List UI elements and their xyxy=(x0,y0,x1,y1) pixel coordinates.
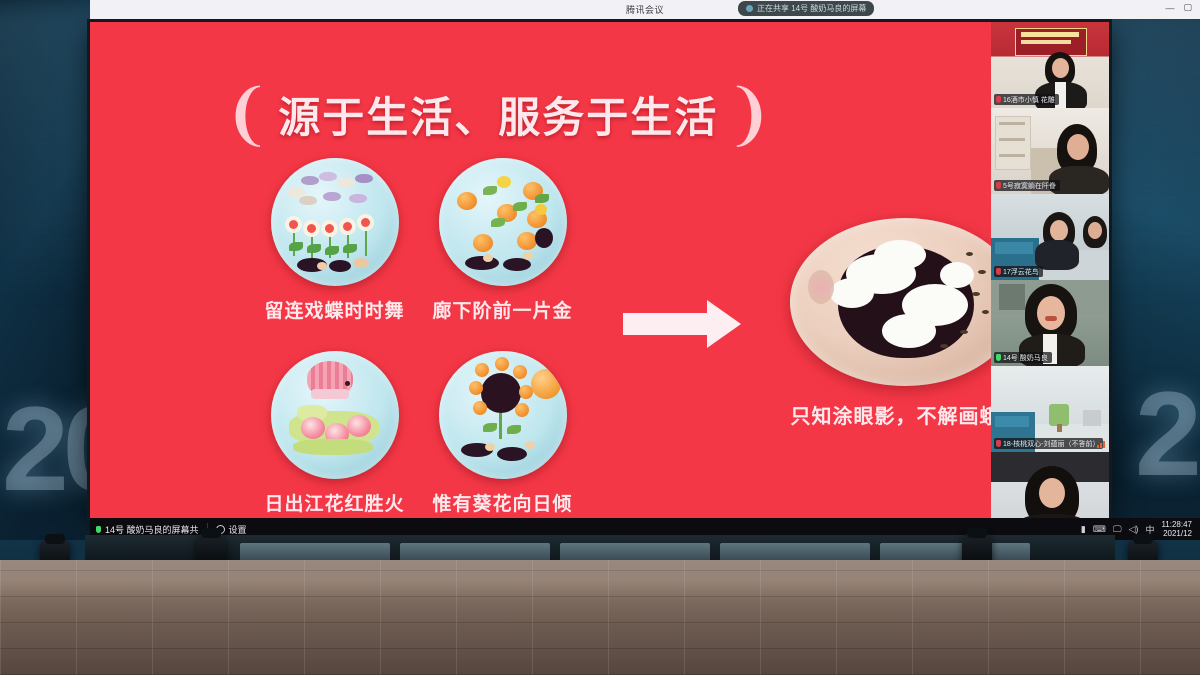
window-controls: — ▢ xyxy=(1165,2,1192,13)
clock-time: 11:28:47 xyxy=(1161,520,1192,529)
keyboard-icon[interactable]: ⌨ xyxy=(1093,524,1106,535)
participant-name-text: 5号寂寞躺在阡眷 xyxy=(1003,181,1056,191)
app-titlebar: 腾讯会议 正在共享 14号 酸奶马良的屏幕 — ▢ xyxy=(90,0,1200,19)
sharing-status-text: 正在共享 14号 酸奶马良的屏幕 xyxy=(757,3,866,14)
plate-caption-2: 廊下阶前一片金 xyxy=(430,296,575,323)
slide-title: 源于生活、服务于生活 xyxy=(278,84,718,145)
plate-caption-3: 日出江花红胜火 xyxy=(262,489,407,516)
laurel-right-icon: ❩ xyxy=(726,81,771,149)
share-indicator-icon xyxy=(746,5,753,12)
participant-name-text: 14号 酸奶马良 xyxy=(1003,353,1048,363)
sharing-status-badge[interactable]: 正在共享 14号 酸奶马良的屏幕 xyxy=(738,1,874,16)
taskbar-clock[interactable]: 11:28:47 2021/12 xyxy=(1161,520,1192,538)
volume-icon[interactable]: ◁) xyxy=(1129,524,1139,535)
projection-screen: ❨ 源于生活、服务于生活 ❩ xyxy=(90,22,1109,518)
plate-image-2 xyxy=(439,158,567,286)
participant-name-text: 16酒市小慎 花雕 xyxy=(1003,95,1055,105)
plate-image-1 xyxy=(271,158,399,286)
plate-cell-4: 惟有葵花向日倾 xyxy=(430,351,575,516)
hall-decor-2: 2 xyxy=(1135,365,1196,503)
mic-muted-icon xyxy=(996,96,1001,103)
plate-image-4 xyxy=(439,351,567,479)
maximize-button[interactable]: ▢ xyxy=(1183,2,1192,13)
minimize-button[interactable]: — xyxy=(1165,3,1174,13)
taskbar-share-label: 14号 酸奶马良的屏幕共 xyxy=(105,523,199,536)
participant-tile[interactable]: 16酒市小慎 花雕 xyxy=(991,22,1109,108)
participant-tile-active-speaker[interactable]: 14号 酸奶马良 xyxy=(991,280,1109,366)
mic-muted-icon xyxy=(996,440,1001,447)
plate-caption-4: 惟有葵花向日倾 xyxy=(430,489,575,516)
hall-floor xyxy=(0,560,1200,675)
plate-cell-1: 留连戏蝶时时舞 xyxy=(262,158,407,323)
plate-grid: 留连戏蝶时时舞 xyxy=(262,158,592,508)
clock-date: 2021/12 xyxy=(1163,529,1192,538)
participant-name-label: 18-核桃双心-刘蕴丽（不答前） xyxy=(994,438,1103,449)
participant-name-label: 14号 酸奶马良 xyxy=(994,352,1052,363)
right-arrow-icon xyxy=(623,300,753,348)
result-caption: 只知涂眼影，不解画蛾眉 xyxy=(790,400,1022,429)
slide-title-row: ❨ 源于生活、服务于生活 ❩ xyxy=(225,84,772,145)
taskbar-settings-label: 设置 xyxy=(229,523,247,536)
mic-icon xyxy=(96,526,101,533)
participant-name-label: 5号寂寞躺在阡眷 xyxy=(994,180,1060,191)
mic-active-icon xyxy=(996,354,1001,361)
participant-tile[interactable]: 18-核桃双心-刘蕴丽（不答前） xyxy=(991,366,1109,452)
mic-muted-icon xyxy=(996,182,1001,189)
screenshot-root: 20 2 赛 创 新 大 赛 ❨ 源于生活、服务于生活 ❩ xyxy=(0,0,1200,675)
plate-caption-1: 留连戏蝶时时舞 xyxy=(262,296,407,323)
battery-icon[interactable]: ▮ xyxy=(1081,524,1086,535)
mic-muted-icon xyxy=(996,268,1001,275)
participant-video-rail[interactable]: 16酒市小慎 花雕 5号寂寞躺在阡眷 xyxy=(991,22,1109,538)
result-plate-image xyxy=(790,218,1020,386)
plate-image-3 xyxy=(271,351,399,479)
participant-tile[interactable]: 17浮云花鸟 xyxy=(991,194,1109,280)
plate-cell-2: 廊下阶前一片金 xyxy=(430,158,575,323)
participant-name-text: 17浮云花鸟 xyxy=(1003,267,1039,277)
app-window-title: 腾讯会议 xyxy=(626,3,664,16)
participant-name-label: 17浮云花鸟 xyxy=(994,266,1043,277)
participant-tile[interactable]: 5号寂寞躺在阡眷 xyxy=(991,108,1109,194)
laurel-left-icon: ❨ xyxy=(225,81,270,149)
display-icon[interactable]: 🖵 xyxy=(1113,524,1122,535)
plate-cell-3: 日出江花红胜火 xyxy=(262,351,407,516)
signal-strength-icon xyxy=(1097,441,1105,448)
participant-name-label: 16酒市小慎 花雕 xyxy=(994,94,1059,105)
participant-name-text: 18-核桃双心-刘蕴丽（不答前） xyxy=(1003,439,1099,449)
